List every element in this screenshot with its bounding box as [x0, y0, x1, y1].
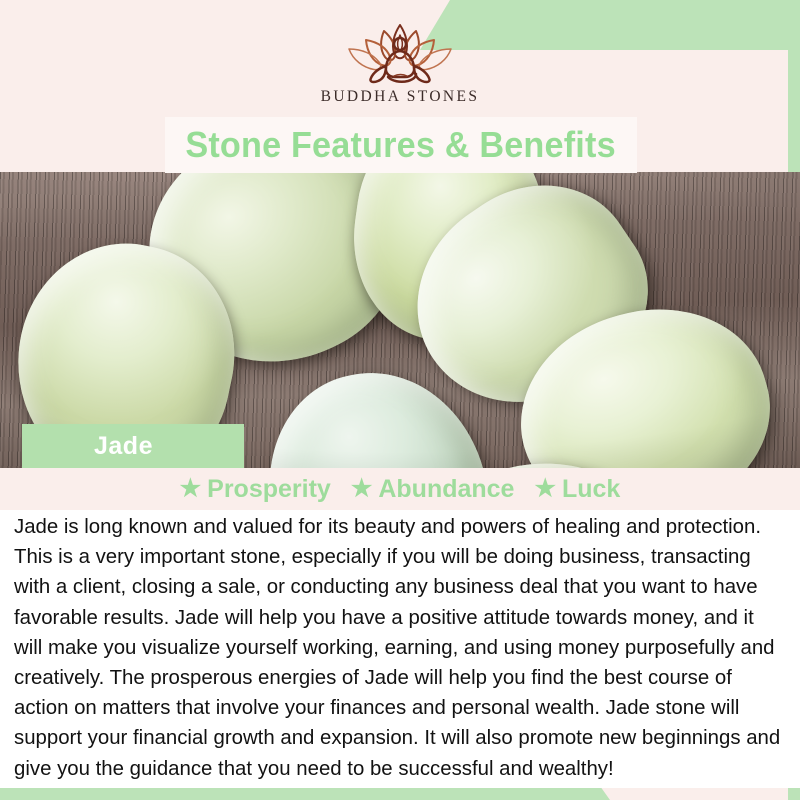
- benefit-label: Prosperity: [207, 475, 331, 504]
- page-title: Stone Features & Benefits: [186, 124, 616, 166]
- brand-header: BUDDHA STONES: [0, 18, 800, 106]
- star-icon: ★: [534, 477, 556, 501]
- benefit-label: Luck: [562, 475, 620, 504]
- benefit-item: ★ Abundance: [351, 475, 515, 504]
- stone-info-poster: BUDDHA STONES Stone Features & Benefits …: [0, 0, 800, 800]
- star-icon: ★: [351, 477, 373, 501]
- brand-name: BUDDHA STONES: [0, 88, 800, 106]
- benefit-label: Abundance: [378, 475, 514, 504]
- stone-name-band: Jade: [22, 424, 244, 468]
- stone-description: Jade is long known and valued for its be…: [0, 510, 800, 788]
- benefit-item: ★ Prosperity: [180, 475, 331, 504]
- benefit-item: ★ Luck: [534, 475, 620, 504]
- star-icon: ★: [180, 477, 202, 501]
- stone-name: Jade: [94, 432, 153, 461]
- lotus-meditation-icon: [340, 18, 460, 84]
- benefits-row: ★ Prosperity ★ Abundance ★ Luck: [0, 468, 800, 510]
- body-section: ★ Prosperity ★ Abundance ★ Luck Jade is …: [0, 468, 800, 800]
- title-band: Stone Features & Benefits: [165, 117, 637, 173]
